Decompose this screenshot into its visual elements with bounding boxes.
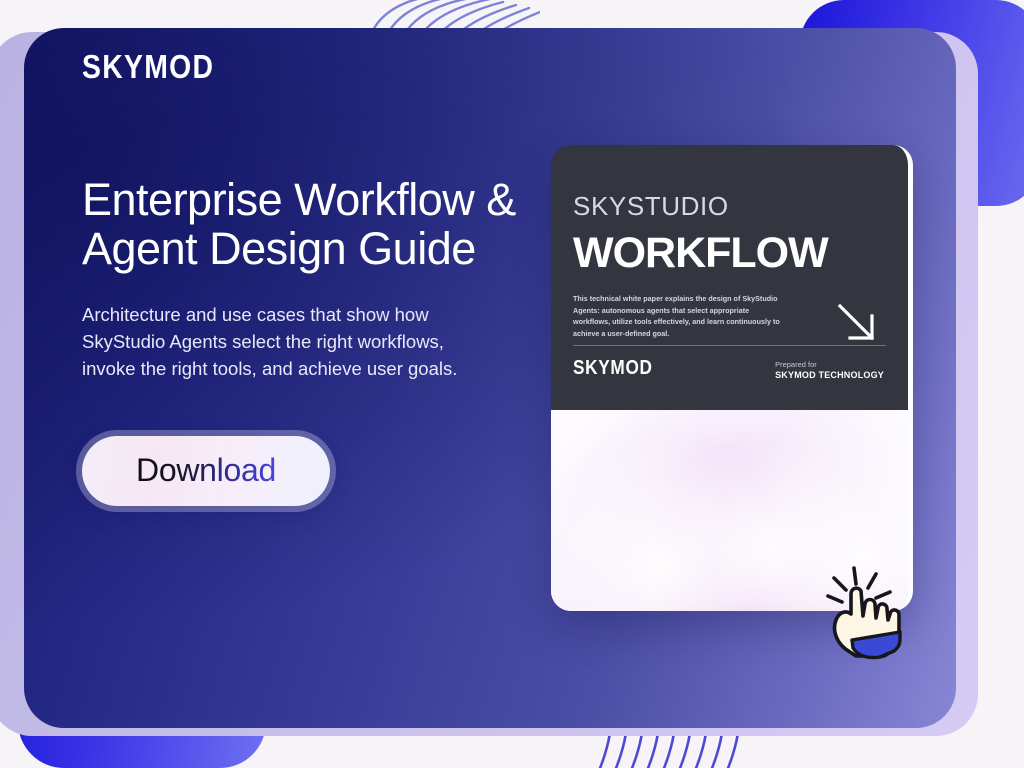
whitepaper-logo: SKYMOD — [573, 357, 653, 380]
vertical-arc-lines-icon — [588, 733, 748, 768]
prepared-for-block: Prepared for SKYMOD TECHNOLOGY — [775, 359, 884, 380]
whitepaper-description: This technical white paper explains the … — [573, 293, 785, 340]
whitepaper-preview[interactable]: SKYSTUDIO WORKFLOW This technical white … — [551, 145, 913, 611]
arrow-down-right-icon — [834, 300, 880, 346]
prepared-for-label: Prepared for — [775, 359, 884, 370]
click-hand-cursor-icon — [806, 556, 918, 660]
whitepaper-footer: SKYMOD Prepared for SKYMOD TECHNOLOGY — [573, 357, 884, 380]
hero-content: SKYMOD Enterprise Workflow & Agent Desig… — [82, 50, 552, 506]
arcs-bottom-decoration — [588, 733, 748, 768]
whitepaper-title: WORKFLOW — [573, 232, 882, 275]
brand-logo: SKYMOD — [82, 50, 486, 83]
whitepaper-divider — [573, 345, 886, 346]
prepared-for-value: SKYMOD TECHNOLOGY — [775, 370, 884, 380]
hero-subcopy: Architecture and use cases that show how… — [82, 302, 462, 382]
whitepaper-card: SKYSTUDIO WORKFLOW This technical white … — [551, 145, 913, 611]
poster-canvas: SKYMOD Enterprise Workflow & Agent Desig… — [0, 0, 1024, 768]
download-button[interactable]: Download — [82, 436, 330, 506]
page-title: Enterprise Workflow & Agent Design Guide — [82, 175, 552, 273]
download-button-label: Download — [136, 452, 276, 489]
whitepaper-eyebrow: SKYSTUDIO — [573, 191, 882, 222]
whitepaper-header: SKYSTUDIO WORKFLOW This technical white … — [551, 145, 908, 410]
